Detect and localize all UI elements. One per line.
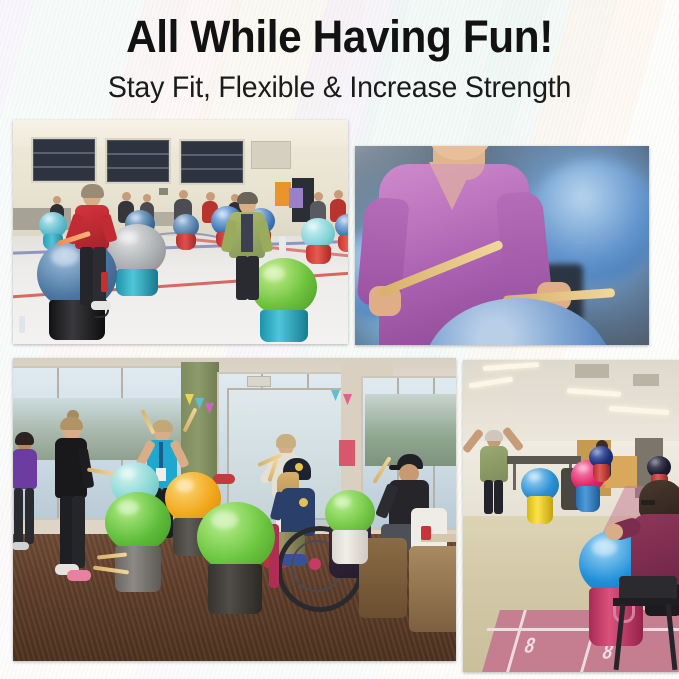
- poster-root: All While Having Fun! Stay Fit, Flexible…: [0, 0, 679, 679]
- woman-red-shirt: [69, 186, 115, 314]
- exit-sign: [247, 376, 271, 387]
- photo-community-room-class: [13, 358, 456, 661]
- shoe: [13, 542, 29, 550]
- hair: [60, 417, 83, 430]
- photo-gym-class-cardio-drumming: [13, 120, 348, 344]
- ball-station-blue-yellow: [521, 468, 559, 524]
- photo-br-scene: 8 8: [463, 360, 679, 672]
- photo-tl-scene: [13, 120, 348, 344]
- ceiling-vent-2: [633, 374, 659, 386]
- gym-window-3: [179, 139, 245, 185]
- shoe: [91, 301, 111, 310]
- hair: [15, 432, 34, 445]
- gym-window-1: [31, 137, 97, 183]
- ceiling-vent: [575, 364, 609, 378]
- page-subtitle: Stay Fit, Flexible & Increase Strength: [17, 70, 662, 106]
- wall-poster: [339, 440, 355, 466]
- water-bottle-2: [19, 316, 25, 333]
- hair: [639, 480, 679, 518]
- photo-bl-scene: [13, 358, 456, 661]
- page-title: All While Having Fun!: [20, 11, 658, 63]
- ball-station-green-dark: [197, 502, 275, 614]
- ball-station-blue-red-2: [173, 214, 199, 250]
- hair: [152, 420, 173, 432]
- cup-red: [421, 526, 431, 540]
- glasses: [641, 500, 655, 505]
- hair: [485, 430, 503, 441]
- water-bottle-3: [279, 236, 286, 254]
- gym-poster-2: [289, 188, 303, 208]
- jacket-inner: [241, 214, 253, 252]
- gym-window-2: [105, 138, 171, 184]
- hair: [81, 184, 104, 198]
- hair: [276, 434, 296, 448]
- participant-purple-top: [13, 434, 41, 554]
- woman-arms-raised: [473, 424, 517, 516]
- hand: [605, 524, 623, 540]
- woman-olive-jacket: [225, 194, 269, 304]
- photo-drummer-closeup: [355, 146, 649, 345]
- hair: [237, 192, 258, 204]
- table-leg: [513, 464, 516, 490]
- gym-wall-panel: [251, 141, 291, 169]
- folding-table: [507, 456, 581, 464]
- photo-tr-scene: [355, 146, 649, 345]
- shirt-logo: [299, 498, 308, 507]
- ball-station-green-grey: [105, 492, 171, 592]
- gym-wall-sign: [159, 188, 168, 195]
- lanyard: [159, 442, 163, 470]
- ball-station-navy-red: [589, 446, 613, 482]
- shoe-2: [67, 570, 91, 581]
- woman-black-top-standing: [51, 418, 93, 584]
- chair-wooden-2: [409, 546, 456, 632]
- beanie-logo: [295, 463, 303, 471]
- photo-senior-center-hall: 8 8: [463, 360, 679, 672]
- folding-chair-foreground: [611, 576, 679, 672]
- ball-station-blue-far: [335, 214, 348, 252]
- ball-station-green-white: [325, 490, 375, 564]
- water-bottle: [101, 272, 108, 292]
